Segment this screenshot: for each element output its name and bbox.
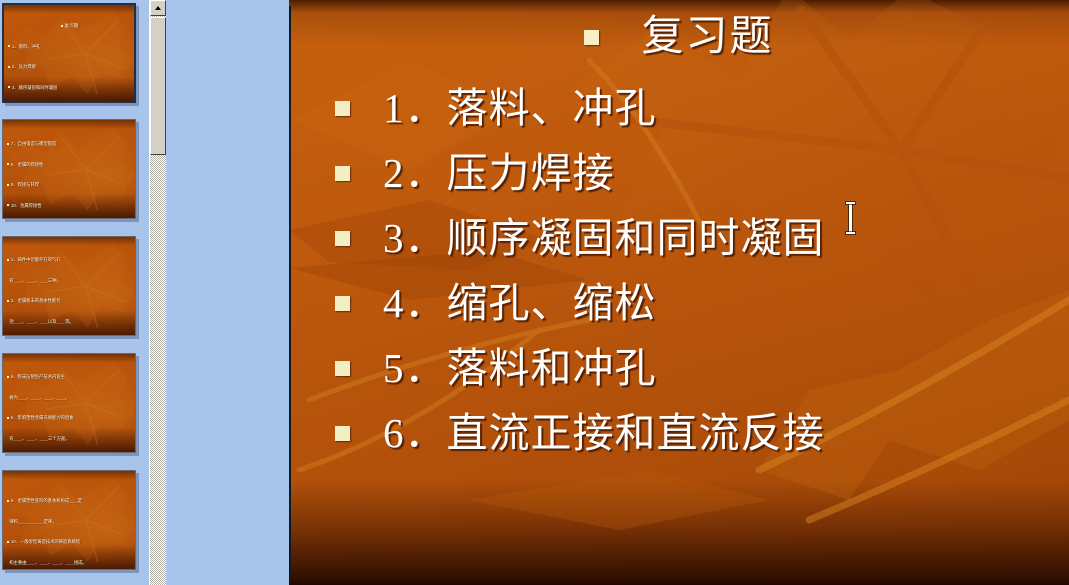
list-item[interactable]: 2．压力焊接	[335, 141, 1065, 206]
list-item[interactable]: 4．缩孔、缩松	[335, 271, 1065, 336]
bullet-square-icon	[335, 101, 350, 116]
thumbnail-bullet-icon	[8, 66, 10, 68]
thumbnail-bullet-icon	[7, 376, 9, 378]
slide-left-border	[289, 6, 291, 578]
list-item[interactable]: 5．落料和冲孔	[335, 336, 1065, 401]
thumbnail-line: 2．金属粉末的基本性能包	[7, 298, 132, 305]
list-item[interactable]: 3．顺序凝固和同时凝固	[335, 206, 1065, 271]
thumbnail-line: 8．金属的焊接性	[7, 162, 132, 169]
thumbnail-bullet-icon	[8, 86, 10, 88]
list-item-label: 6．直流正接和直流反接	[383, 413, 825, 454]
thumbnail-line: 2．压力焊接	[8, 64, 131, 71]
list-item-label: 1．落料、冲孔	[383, 88, 657, 129]
slide-thumbnail-2[interactable]: 7．自由锻造与模型锻造 8．金属的焊接性 9．焊接与钎焊 10．金属焊接性 11…	[2, 119, 136, 219]
thumbnail-line: 1．铸件中可能存在的气孔	[7, 257, 132, 264]
list-item-label: 3．顺序凝固和同时凝固	[383, 218, 825, 259]
thumbnail-bullet-icon	[61, 25, 63, 27]
thumbnail-line: 有＿＿、＿＿、＿＿三种。	[7, 278, 132, 285]
slide-thumbnail-5[interactable]: 9．金属塑性变形的基本机构成＿＿定 律和＿＿＿＿＿＿定律。 10．一般砂型铸造技…	[2, 470, 136, 570]
bullet-square-icon	[335, 426, 350, 441]
bullet-square-icon	[584, 30, 599, 45]
thumbnail-scrollbar[interactable]	[149, 0, 167, 585]
thumbnail-line: 有＿＿、＿＿、＿＿三个方面。	[7, 436, 132, 443]
thumbnail-content-4: 5．粉末压制生产技术内容主 要为＿＿、＿＿、＿＿、＿＿。 6．影响塑性金属充填能…	[7, 361, 132, 450]
thumbnail-bullet-icon	[7, 184, 9, 186]
thumbnail-bullet-icon	[7, 417, 9, 419]
list-item-label: 5．落料和冲孔	[383, 348, 657, 389]
bullet-square-icon	[335, 166, 350, 181]
scroll-up-button[interactable]	[150, 0, 166, 16]
thumbnail-line: 律和＿＿＿＿＿＿定律。	[7, 519, 132, 526]
thumbnail-bullet-icon	[7, 300, 9, 302]
thumbnail-title-1: 复习题	[8, 22, 131, 29]
slide-thumbnail-pane[interactable]: 复习题 1．落料、冲孔 2．压力焊接 3．顺序凝固和同时凝固 4．缩孔、缩松 5…	[0, 0, 148, 585]
thumbnail-content-3: 1．铸件中可能存在的气孔 有＿＿、＿＿、＿＿三种。 2．金属粉末的基本性能包 括…	[7, 244, 132, 333]
thumbnail-line: 要为＿＿、＿＿、＿＿、＿＿。	[7, 395, 132, 402]
bullet-square-icon	[335, 296, 350, 311]
thumbnail-bullet-icon	[7, 259, 9, 261]
bullet-square-icon	[335, 361, 350, 376]
thumbnail-bullet-icon	[7, 163, 9, 165]
bullet-square-icon	[335, 231, 350, 246]
triangle-up-icon	[155, 6, 161, 10]
pane-divider	[166, 0, 170, 585]
slide-title[interactable]: 复习题	[289, 14, 1069, 60]
thumbnail-line: 括＿＿、＿＿、＿＿以及＿＿等。	[7, 319, 132, 326]
list-item-label: 2．压力焊接	[383, 153, 615, 194]
thumbnail-line: 10．一般砂型铸造技术的铸造系统结	[7, 539, 132, 546]
thumbnail-content-2: 7．自由锻造与模型锻造 8．金属的焊接性 9．焊接与钎焊 10．金属焊接性 11…	[7, 128, 132, 216]
thumbnail-bullet-icon	[7, 500, 9, 502]
slide-canvas[interactable]: 复习题 1．落料、冲孔 2．压力焊接 3．顺序凝固和同时凝固 4．缩孔、缩松	[289, 0, 1069, 585]
slide-thumbnail-1[interactable]: 复习题 1．落料、冲孔 2．压力焊接 3．顺序凝固和同时凝固 4．缩孔、缩松 5…	[2, 3, 136, 103]
slide-thumbnail-4[interactable]: 5．粉末压制生产技术内容主 要为＿＿、＿＿、＿＿、＿＿。 6．影响塑性金属充填能…	[2, 353, 136, 453]
slide-text-content[interactable]: 复习题 1．落料、冲孔 2．压力焊接 3．顺序凝固和同时凝固 4．缩孔、缩松	[289, 0, 1069, 585]
thumbnail-line: 7．自由锻造与模型锻造	[7, 141, 132, 148]
slide-thumbnail-3[interactable]: 1．铸件中可能存在的气孔 有＿＿、＿＿、＿＿三种。 2．金属粉末的基本性能包 括…	[2, 236, 136, 336]
list-item[interactable]: 1．落料、冲孔	[335, 76, 1065, 141]
thumbnail-bullet-icon	[7, 541, 9, 543]
thumbnail-bullet-icon	[7, 143, 9, 145]
scrollbar-thumb[interactable]	[150, 17, 166, 155]
thumbnail-content-1: 复习题 1．落料、冲孔 2．压力焊接 3．顺序凝固和同时凝固 4．缩孔、缩松 5…	[8, 9, 131, 99]
list-item[interactable]: 6．直流正接和直流反接	[335, 401, 1065, 466]
thumbnail-bullet-icon	[7, 204, 9, 206]
thumbnail-line: 1．落料、冲孔	[8, 44, 131, 51]
thumbnail-bullet-icon	[8, 45, 10, 47]
thumbnail-line: 9．焊接与钎焊	[7, 182, 132, 189]
thumbnail-line: 9．金属塑性变形的基本机构成＿＿定	[7, 498, 132, 505]
list-item-label: 4．缩孔、缩松	[383, 283, 657, 324]
thumbnail-line: 构主要由＿＿、＿＿、＿＿、＿＿组成。	[7, 560, 132, 567]
thumbnail-content-5: 9．金属塑性变形的基本机构成＿＿定 律和＿＿＿＿＿＿定律。 10．一般砂型铸造技…	[7, 485, 132, 567]
slide-bullet-list[interactable]: 1．落料、冲孔 2．压力焊接 3．顺序凝固和同时凝固 4．缩孔、缩松 5．落料和…	[335, 76, 1065, 466]
thumbnail-line: 6．影响塑性金属充填能力的因素	[7, 415, 132, 422]
slide-title-text: 复习题	[641, 14, 773, 60]
thumbnail-line: 5．粉末压制生产技术内容主	[7, 374, 132, 381]
thumbnail-line: 10．金属焊接性	[7, 203, 132, 210]
thumbnail-line: 3．顺序凝固和同时凝固	[8, 85, 131, 92]
presentation-window: 复习题 1．落料、冲孔 2．压力焊接 3．顺序凝固和同时凝固 4．缩孔、缩松 5…	[0, 0, 1069, 585]
text-cursor-ibeam-icon	[849, 203, 852, 233]
